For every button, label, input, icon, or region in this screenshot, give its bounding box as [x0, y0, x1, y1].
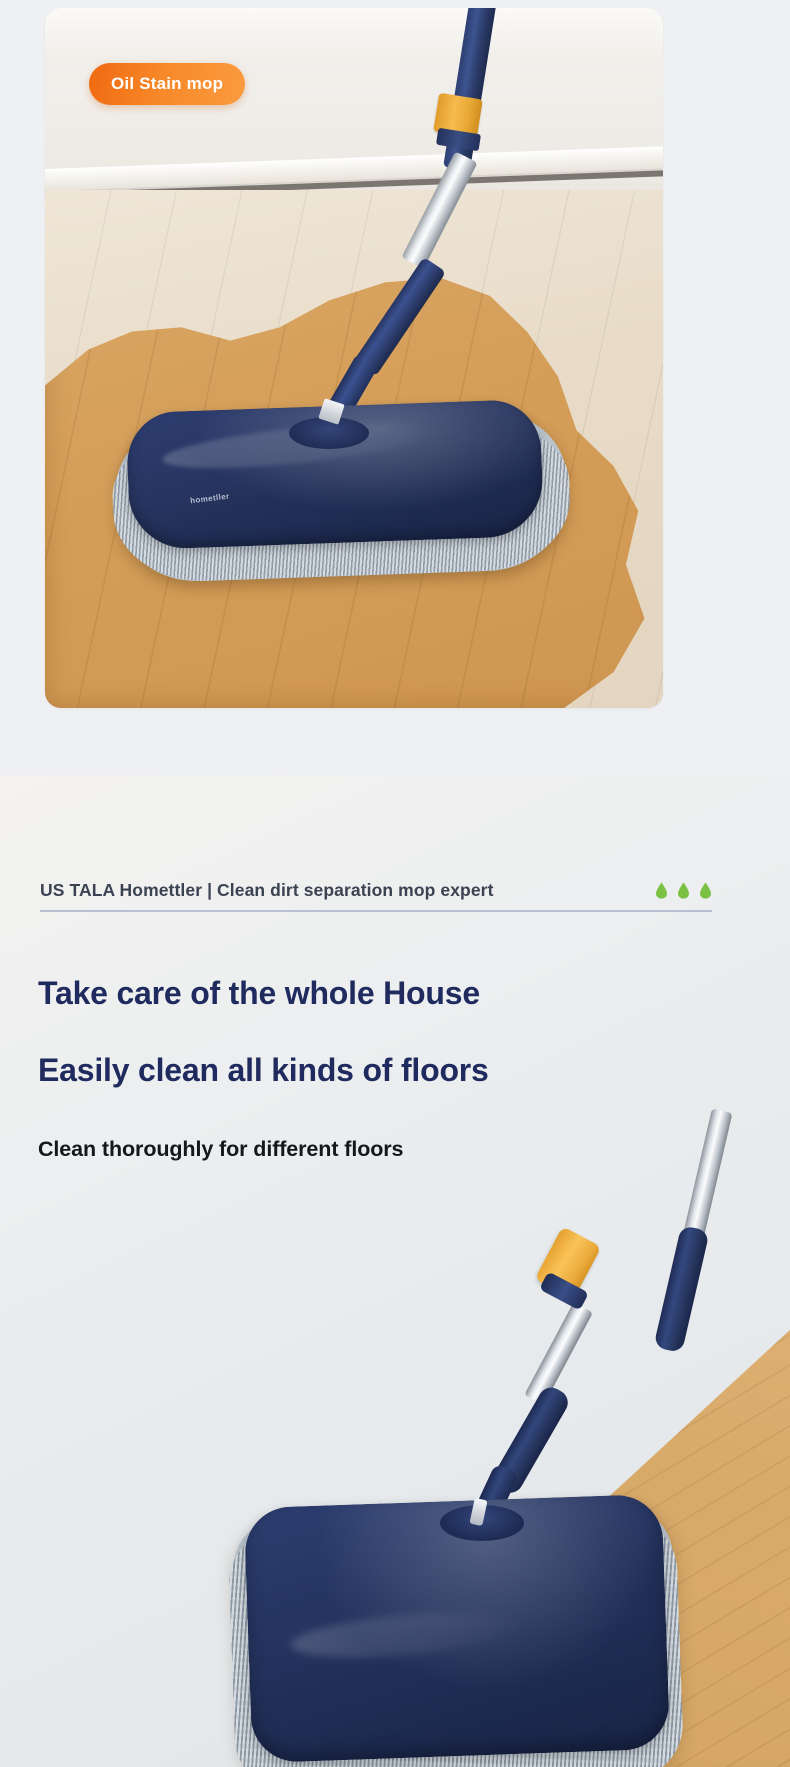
- oil-stain-mop-badge: Oil Stain mop: [89, 63, 245, 105]
- mop-backing-pad: [231, 1503, 680, 1767]
- brand-kicker-text: US TALA Homettler | Clean dirt separatio…: [40, 880, 494, 901]
- wood-plank-edge: [70, 1097, 790, 1767]
- mop-microfiber-fringe: [228, 1515, 685, 1767]
- cabinet-panel: [193, 8, 342, 65]
- kicker-row: US TALA Homettler | Clean dirt separatio…: [40, 880, 712, 912]
- product-detail-page: hometller Oil Stain mop US TALA Homettle…: [0, 0, 790, 1767]
- mop-pole-orange-collar: [534, 1226, 601, 1300]
- mop-pole-collar-ring: [539, 1271, 589, 1310]
- features-section: US TALA Homettler | Clean dirt separatio…: [0, 775, 790, 1767]
- mop-swivel-hub: [440, 1505, 524, 1541]
- water-drop-icon: [655, 882, 668, 899]
- mop-swivel-latch: [469, 1498, 487, 1526]
- water-drop-icon: [699, 882, 712, 899]
- cabinet-panel: [490, 8, 663, 65]
- cabinet-panel: [45, 8, 194, 65]
- mop-pole-steel-upper: [678, 1108, 732, 1259]
- lower-product-image: [0, 775, 790, 1767]
- mop-head-highlight: [289, 1605, 522, 1665]
- mop-pole-blue-lower: [489, 1383, 572, 1498]
- mop-head-plate: [244, 1494, 671, 1763]
- mop-pole-blue-upper: [653, 1225, 709, 1353]
- mop-pole-neck: [470, 1463, 519, 1528]
- headline-primary: Take care of the whole House: [38, 975, 480, 1012]
- subheadline: Clean thoroughly for different floors: [38, 1137, 403, 1162]
- wood-plank: [70, 1097, 790, 1767]
- hero-product-image: hometller Oil Stain mop: [45, 8, 663, 708]
- water-drop-rating: [655, 882, 712, 901]
- headline-secondary: Easily clean all kinds of floors: [38, 1052, 489, 1089]
- water-drop-icon: [677, 882, 690, 899]
- mop-pole-steel-lower: [524, 1302, 593, 1405]
- hero-section: hometller Oil Stain mop: [0, 0, 790, 775]
